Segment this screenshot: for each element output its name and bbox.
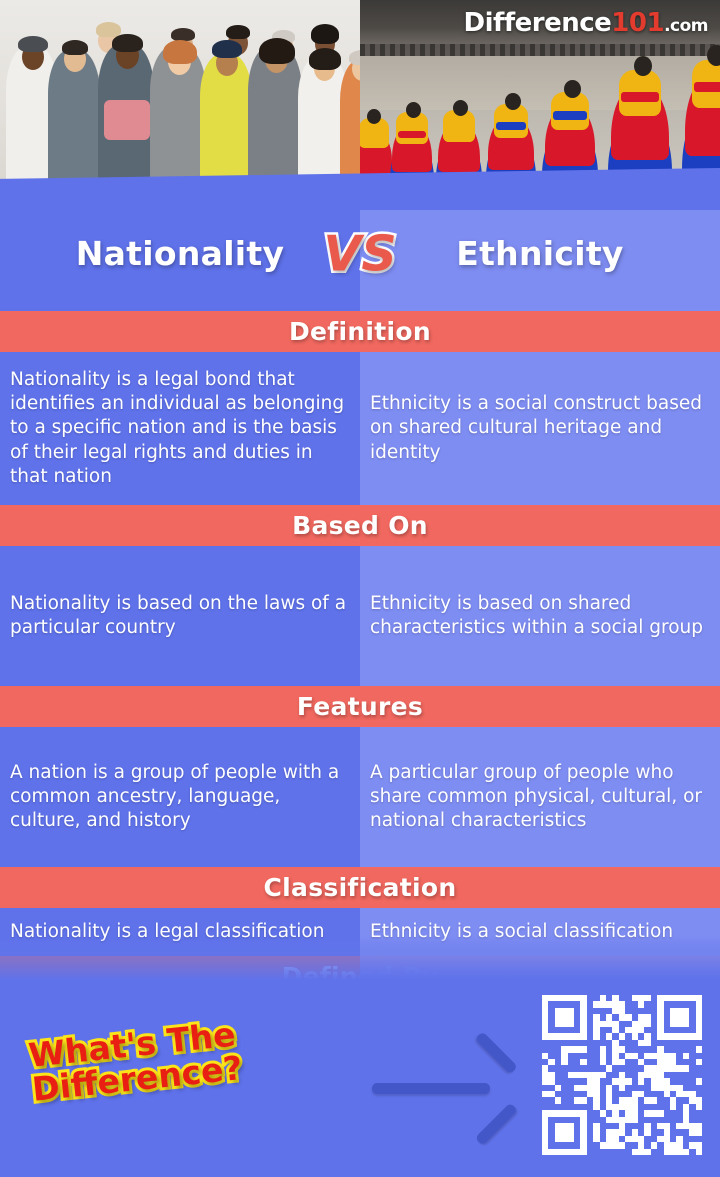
arrow-right-icon <box>372 1066 522 1110</box>
left-cell-text: Nationality is based on the laws of a pa… <box>10 592 350 640</box>
section-header: Based On <box>0 505 720 546</box>
section-header: Classification <box>0 867 720 908</box>
left-cell: A nation is a group of people with a com… <box>0 727 360 867</box>
qr-code[interactable] <box>542 995 702 1155</box>
left-cell: Nationality is based on the laws of a pa… <box>0 546 360 686</box>
brand-logo: Difference101.com <box>464 8 708 38</box>
logo-text-tld: .com <box>664 16 708 36</box>
section-body: A nation is a group of people with a com… <box>0 727 720 867</box>
right-cell: A particular group of people who share c… <box>360 727 720 867</box>
section-title: Features <box>297 692 423 721</box>
bottom-fade-overlay-right <box>360 936 720 980</box>
section-title: Classification <box>264 873 457 902</box>
cta-whats-the-difference: What's The Difference? <box>27 1017 244 1106</box>
left-cell: Nationality is a legal bond that identif… <box>0 352 360 505</box>
left-title-panel: Nationality <box>0 196 360 311</box>
right-cell-text: Ethnicity is based on shared characteris… <box>370 592 710 640</box>
right-title: Ethnicity <box>456 234 623 273</box>
logo-text-primary: Difference <box>464 8 612 38</box>
right-cell: Ethnicity is based on shared characteris… <box>360 546 720 686</box>
left-cell-text: A nation is a group of people with a com… <box>10 761 350 833</box>
section-header: Definition <box>0 311 720 352</box>
title-band: Nationality Ethnicity VS <box>0 196 720 311</box>
section-header: Features <box>0 686 720 727</box>
right-cell-text: A particular group of people who share c… <box>370 761 710 833</box>
section-title: Definition <box>289 317 431 346</box>
footer: What's The Difference? <box>0 980 720 1177</box>
right-cell-text: Ethnicity is a social construct based on… <box>370 392 710 464</box>
section-body: Nationality is based on the laws of a pa… <box>0 546 720 686</box>
section-title: Based On <box>292 511 428 540</box>
logo-text-accent: 101 <box>611 8 664 38</box>
right-title-panel: Ethnicity <box>360 196 720 311</box>
infographic-root: Difference101.com Nationality Ethnicity … <box>0 0 720 1177</box>
photo-header: Difference101.com <box>0 0 720 196</box>
section-body: Nationality is a legal bond that identif… <box>0 352 720 505</box>
right-cell: Ethnicity is a social construct based on… <box>360 352 720 505</box>
left-cell-text: Nationality is a legal bond that identif… <box>10 368 350 488</box>
left-photo-diverse-group <box>0 0 360 196</box>
left-title: Nationality <box>76 234 285 273</box>
versus-badge: VS <box>323 225 396 282</box>
